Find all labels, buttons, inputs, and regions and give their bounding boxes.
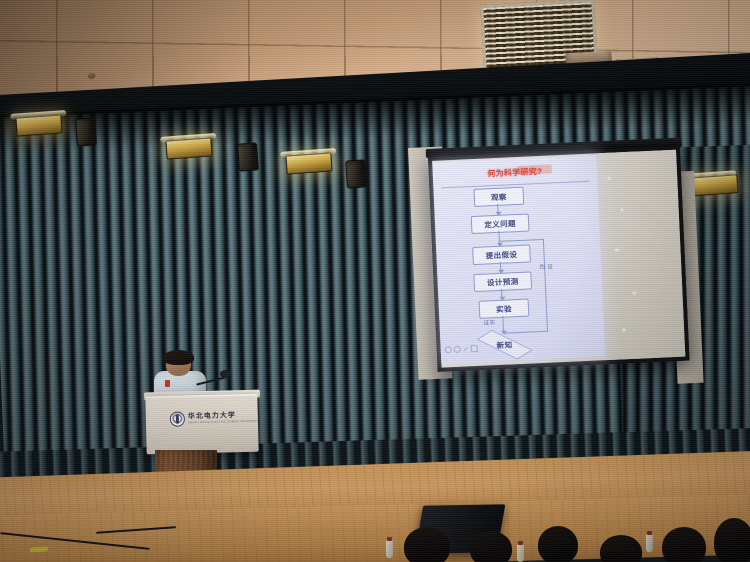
audience-head bbox=[538, 526, 578, 562]
audience-head bbox=[714, 518, 750, 562]
stage-light bbox=[285, 152, 332, 174]
ceiling-fixture-dot bbox=[88, 73, 95, 78]
annotation-toolbar[interactable] bbox=[445, 345, 478, 353]
stage-light bbox=[165, 137, 212, 159]
pointer-icon[interactable] bbox=[471, 345, 478, 352]
falsification-loop bbox=[499, 239, 548, 334]
mic-arm bbox=[196, 376, 226, 385]
university-logo: 华北电力大学 NORTH CHINA ELECTRIC POWER UNIVER… bbox=[170, 410, 259, 427]
eraser-icon[interactable] bbox=[463, 346, 468, 351]
screen-unlit-area bbox=[596, 150, 685, 360]
spotlight-can bbox=[345, 159, 367, 188]
logo-name-cn: 华北电力大学 bbox=[188, 411, 259, 420]
flow-result-label: 新知 bbox=[496, 339, 512, 351]
presenter-hair bbox=[163, 350, 194, 365]
logo-emblem-icon bbox=[170, 411, 185, 426]
stage-light bbox=[15, 114, 62, 136]
flow-result-new-knowledge: 新知 bbox=[476, 332, 533, 357]
slide-title: 何为科学研究? bbox=[433, 163, 597, 181]
pen-icon[interactable] bbox=[445, 346, 452, 353]
spotlight-can bbox=[237, 142, 259, 171]
mic-head bbox=[220, 370, 231, 378]
screen-scuff bbox=[607, 177, 611, 180]
highlighter-icon[interactable] bbox=[454, 346, 461, 353]
screen-scuff bbox=[632, 292, 636, 295]
audience-head bbox=[662, 527, 706, 562]
water-bottle bbox=[386, 540, 393, 558]
logo-name-en: NORTH CHINA ELECTRIC POWER UNIVERSITY bbox=[188, 420, 259, 425]
screen-scuff bbox=[622, 328, 626, 331]
projection-screen: 何为科学研究? 观察 定义问题 提出假设 设计预测 实验 证伪 证实 bbox=[428, 146, 689, 372]
branch-label-confirm: 证实 bbox=[483, 318, 495, 327]
projected-slide: 何为科学研究? 观察 定义问题 提出假设 设计预测 实验 证伪 证实 bbox=[432, 155, 605, 363]
spotlight-can bbox=[75, 117, 97, 146]
screen-scuff bbox=[621, 208, 624, 211]
screen-scuff bbox=[614, 248, 619, 251]
audience-head bbox=[600, 535, 642, 562]
water-bottle bbox=[646, 534, 653, 552]
flow-step-define-problem: 定义问题 bbox=[471, 213, 530, 234]
presenter-badge bbox=[165, 380, 170, 387]
flow-step-observe: 观察 bbox=[473, 187, 524, 207]
loop-label-falsify: 证伪 bbox=[537, 263, 553, 270]
lecture-hall-photo: 何为科学研究? 观察 定义问题 提出假设 设计预测 实验 证伪 证实 bbox=[0, 0, 750, 562]
lectern-front-panel: 华北电力大学 NORTH CHINA ELECTRIC POWER UNIVER… bbox=[145, 394, 258, 455]
audience-head bbox=[470, 531, 512, 562]
water-bottle bbox=[517, 544, 524, 562]
audience-head bbox=[404, 527, 450, 562]
